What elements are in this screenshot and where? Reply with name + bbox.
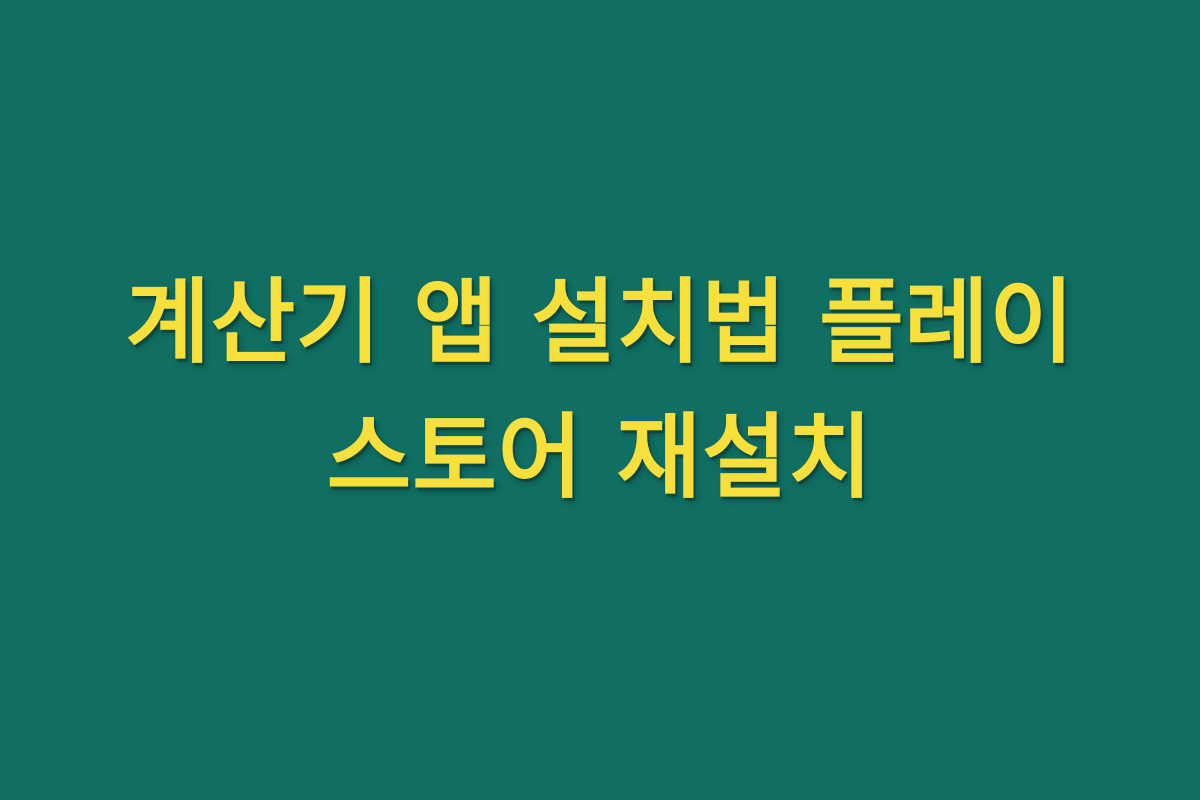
headline-block: 계산기 앱 설치법 플레이 스토어 재설치	[70, 258, 1130, 523]
headline-line-2: 스토어 재설치	[327, 393, 874, 524]
banner-canvas: 계산기 앱 설치법 플레이 스토어 재설치	[0, 0, 1200, 800]
headline-line-1: 계산기 앱 설치법 플레이	[126, 258, 1075, 389]
